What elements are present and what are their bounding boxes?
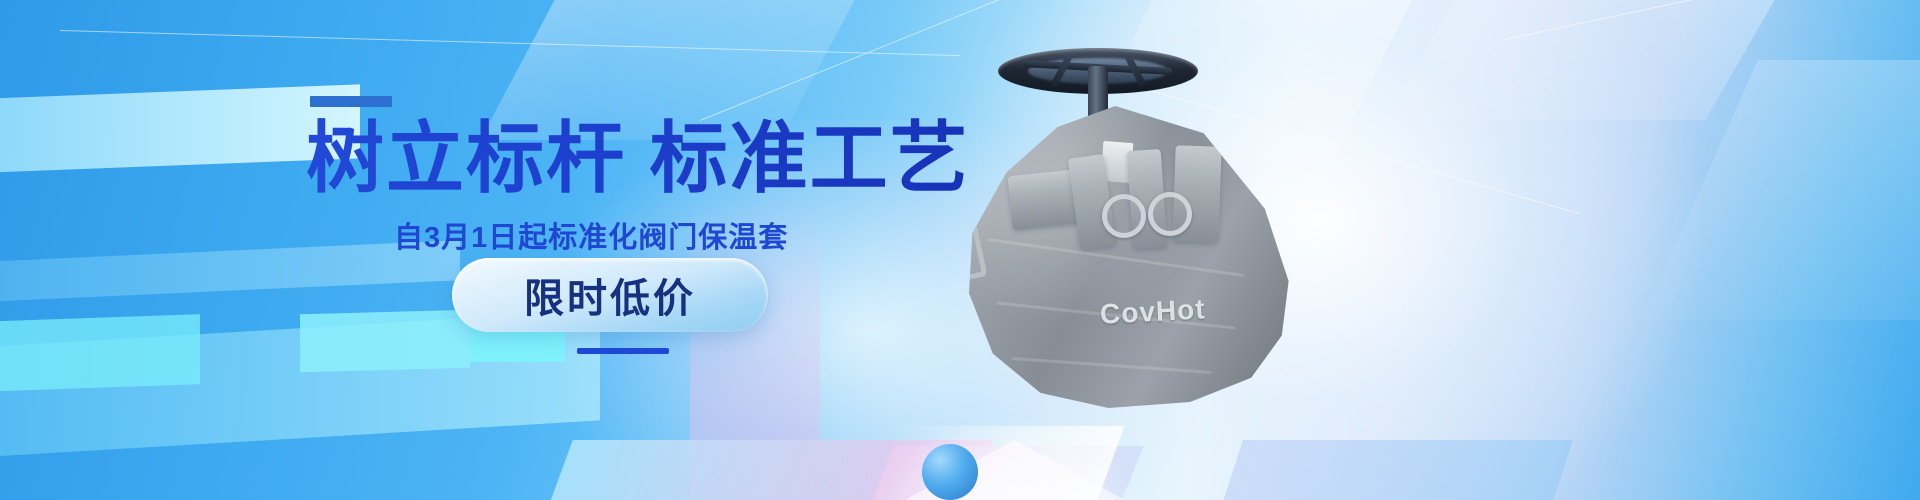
promo-banner: 树立标杆 标准工艺 自3月1日起标准化阀门保温套 限时低价 CovHot [0,0,1920,500]
product-brand-label: CovHot [1099,293,1206,330]
valve-insulation-jacket-image: CovHot [930,14,1350,434]
limited-time-price-button[interactable]: 限时低价 [452,258,768,332]
jacket-d-ring [941,221,988,283]
jacket-buckle-1 [1102,194,1146,238]
banner-title: 树立标杆 标准工艺 [306,118,966,200]
insulation-jacket-body: CovHot [952,106,1292,408]
jacket-seam-1 [987,238,1245,277]
jacket-seam-3 [1012,357,1212,374]
jacket-buckle-2 [1148,192,1192,236]
cta-label: 限时低价 [524,266,696,324]
banner-subtitle: 自3月1日起标准化阀门保温套 [394,214,788,256]
cta-underline [577,348,669,354]
title-accent-bar [310,96,392,107]
